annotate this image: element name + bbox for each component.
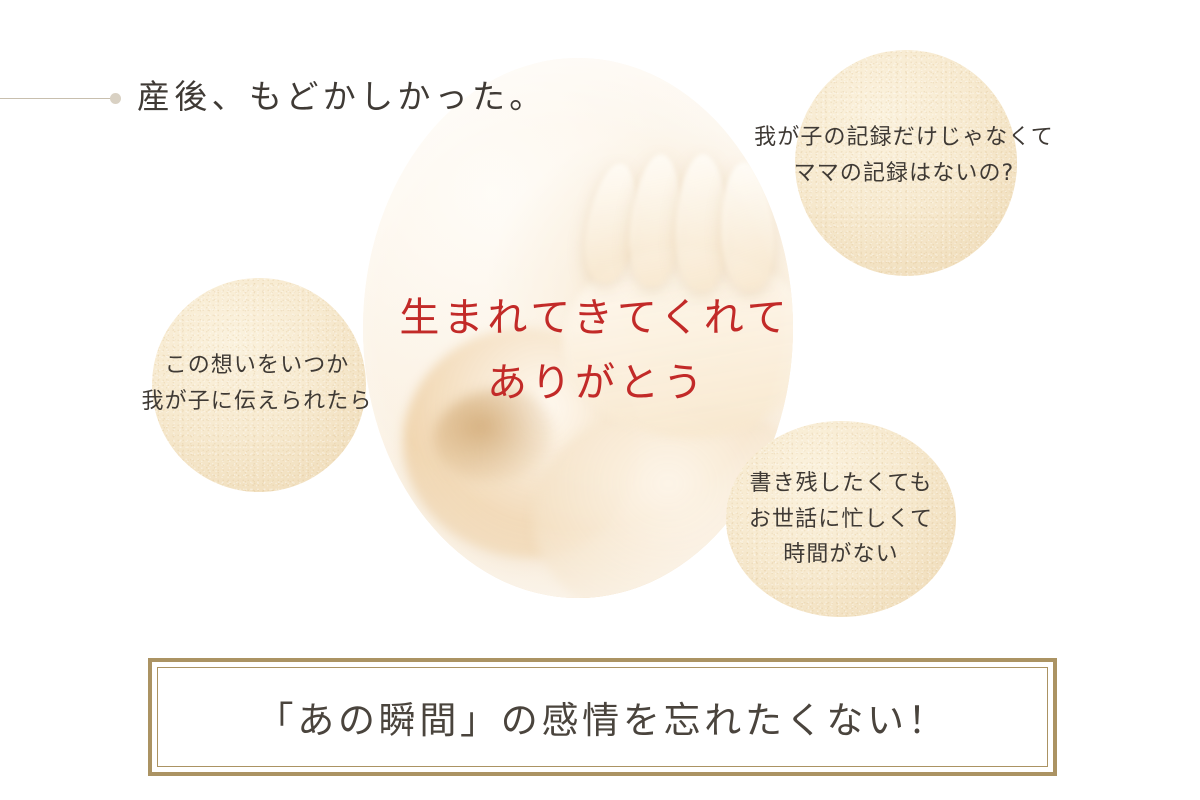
bubble-top-right-caption: 我が子の記録だけじゃなくて ママの記録はないの? [724,120,1084,191]
headline-lead-dot-icon [110,93,121,104]
caption-line: お世話に忙しくて [716,502,966,538]
headline-lead-line [0,98,112,99]
center-message: 生まれてきてくれて ありがとう [370,286,820,416]
center-message-line-2: ありがとう [370,351,820,416]
caption-line: 我が子に伝えられたら [112,384,402,420]
caption-line: ママの記録はないの? [794,161,1015,186]
bubble-bottom-right-caption: 書き残したくても お世話に忙しくて 時間がない [716,466,966,573]
caption-line: 我が子の記録だけじゃなくて [724,120,1084,156]
center-message-line-1: 生まれてきてくれて [370,286,820,351]
bubble-left-caption: この想いをいつか 我が子に伝えられたら [112,348,402,419]
caption-line: 書き残したくても [716,466,966,502]
bottom-banner-text: 「あの瞬間」の感情を忘れたくない！ [257,690,949,744]
page-title: 産後、もどかしかった。 [137,70,547,118]
caption-line: 時間がない [783,542,899,567]
bottom-banner: 「あの瞬間」の感情を忘れたくない！ [148,658,1057,776]
caption-line: この想いをいつか [165,353,350,378]
bottom-banner-inner-frame: 「あの瞬間」の感情を忘れたくない！ [157,667,1048,767]
